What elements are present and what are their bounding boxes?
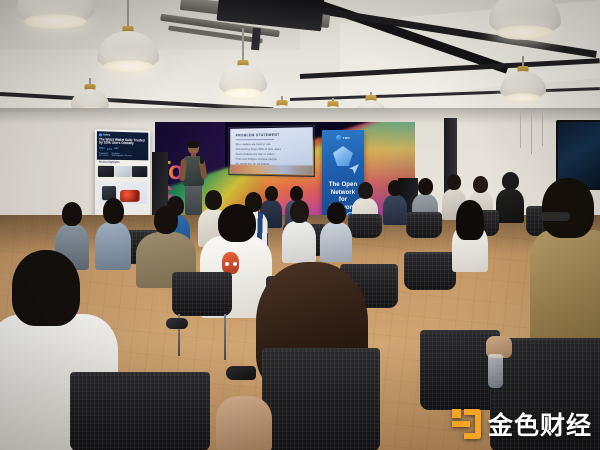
ton-logo-text: TON — [343, 136, 350, 140]
audience-member — [496, 172, 524, 220]
audience-member — [320, 202, 352, 258]
poster-product-thumb — [115, 166, 130, 177]
jinse-logo-mark-icon — [452, 409, 482, 439]
poster-stats: 100k+ 4.9★ 24/7 — [99, 148, 146, 152]
poster-product-thumb — [98, 166, 114, 177]
microphone-icon — [200, 154, 204, 164]
diamond-graphic-icon — [333, 146, 353, 166]
poster-kv-left: Supported 10+ Chains — [99, 152, 109, 158]
logo-bracket — [464, 409, 481, 439]
poster-stat: 4.9★ — [107, 148, 112, 151]
audience-member-foreground — [534, 178, 600, 328]
poster-product-thumb — [132, 166, 147, 177]
knee — [216, 396, 272, 450]
chair — [404, 252, 456, 290]
audience-member — [383, 180, 407, 224]
poster-headline-line2: by 100k Users Globally — [99, 141, 134, 146]
chair — [348, 214, 382, 238]
shoe — [226, 366, 256, 380]
ton-logo: TON — [336, 135, 350, 140]
chair — [172, 272, 232, 316]
ton-diamond-icon — [336, 135, 341, 140]
poster-kv-label: Supported — [99, 152, 108, 154]
hanging-wire — [531, 108, 532, 154]
mascot-eye — [233, 262, 237, 266]
poster-stat: 24/7 — [114, 148, 118, 151]
hanging-wire — [520, 108, 521, 148]
conference-photo: To Ic re PROBLEM STATEMENT Most wallets … — [0, 0, 600, 450]
hanging-wire — [542, 108, 543, 146]
chair — [70, 372, 210, 450]
presenter-hair — [187, 141, 199, 148]
audience-member — [282, 200, 316, 260]
poster-product-grid — [98, 166, 147, 177]
projection-screen-frame — [228, 125, 315, 177]
poster-kv-value: 10+ Chains — [99, 155, 109, 157]
watermark: 金色财经 — [452, 406, 592, 442]
poster-headline: The Web3 Wallet Suite Trusted by 100k Us… — [99, 138, 146, 147]
poster-header: Safety The Web3 Wallet Suite Trusted by … — [97, 131, 148, 160]
eyeglasses-icon — [540, 212, 570, 221]
paper-plane-icon — [349, 164, 359, 174]
poster-section-label: Product Highlights — [99, 162, 120, 164]
logo-square — [452, 409, 461, 418]
audience-member — [452, 200, 488, 268]
shoe — [166, 318, 188, 329]
poster-keyvalues: Supported 10+ Chains Hardware Multi-Sign… — [99, 152, 146, 158]
water-bottle — [488, 354, 503, 388]
poster-kv-value: Multi-Signature Security — [112, 155, 132, 157]
chair — [262, 348, 380, 450]
watermark-text: 金色财经 — [488, 406, 592, 442]
mascot-eye — [225, 262, 229, 266]
chair — [406, 212, 442, 238]
poster-kv-right: Hardware Multi-Signature Security — [112, 152, 132, 158]
poster-stat: 100k+ — [99, 148, 105, 151]
